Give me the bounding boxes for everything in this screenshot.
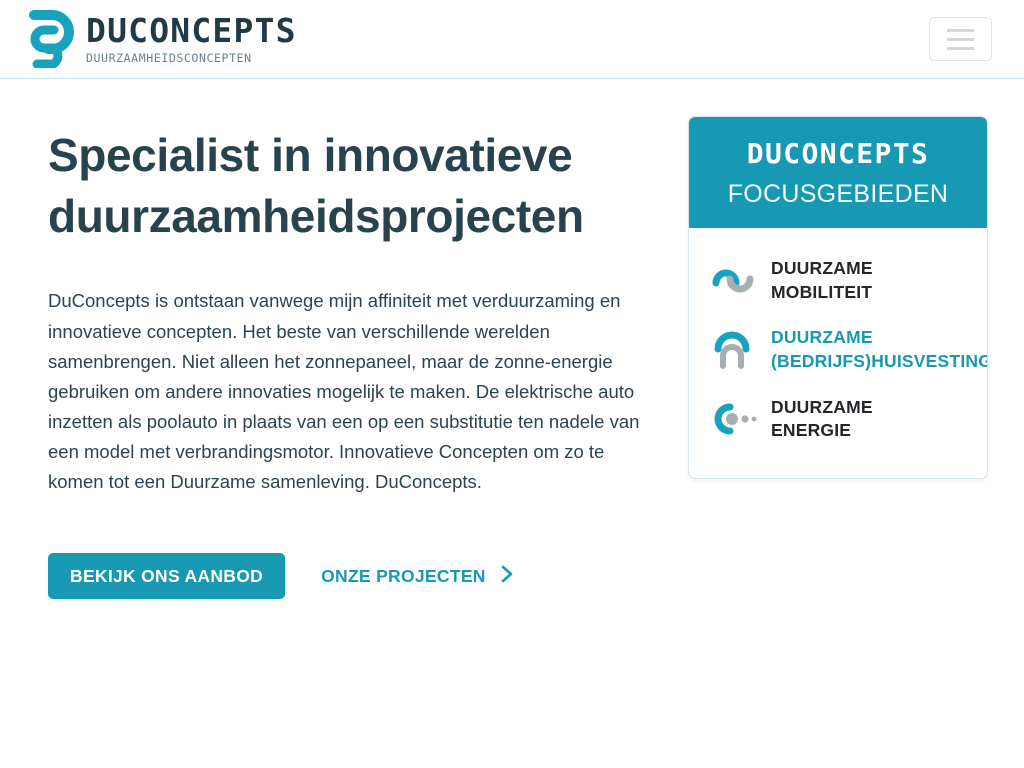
duconcepts-logo-mark-icon: [28, 10, 76, 68]
hamburger-bar-icon: [947, 47, 974, 50]
hamburger-menu-button[interactable]: [929, 17, 992, 61]
focus-card-header: DUCONCEPTS FOCUSGEBIEDEN: [689, 117, 987, 228]
page-title: Specialist in innovatieve duurzaamheidsp…: [48, 125, 640, 246]
focusgebieden-card: DUCONCEPTS FOCUSGEBIEDEN DUURZAME MOBILI…: [688, 116, 988, 479]
onze-projecten-label: ONZE PROJECTEN: [321, 566, 486, 587]
focus-card-brand: DUCONCEPTS: [689, 140, 987, 168]
mobility-wave-icon: [711, 259, 755, 303]
focus-item-duurzame-bedrijfshuisvesting[interactable]: DUURZAME (BEDRIJFS)HUISVESTING: [689, 315, 987, 384]
onze-projecten-link[interactable]: ONZE PROJECTEN: [321, 564, 514, 589]
focus-card-body: DUURZAME MOBILITEIT DUURZAME (BEDRIJFS)H…: [689, 228, 987, 478]
bekijk-ons-aanbod-button[interactable]: BEKIJK ONS AANBOD: [48, 553, 285, 599]
brand-subtitle: DUURZAAMHEIDSCONCEPTEN: [86, 53, 297, 65]
page-main: Specialist in innovatieve duurzaamheidsp…: [0, 79, 1024, 599]
site-navbar: DUCONCEPTS DUURZAAMHEIDSCONCEPTEN: [0, 0, 1024, 79]
brand-logo-link[interactable]: DUCONCEPTS DUURZAAMHEIDSCONCEPTEN: [28, 10, 297, 68]
chevron-right-icon: [500, 564, 514, 589]
focus-item-label: DUURZAME (BEDRIJFS)HUISVESTING: [771, 326, 988, 373]
hero-actions: BEKIJK ONS AANBOD ONZE PROJECTEN: [48, 553, 640, 599]
energy-dots-icon: [711, 397, 755, 441]
hero-description: DuConcepts is ontstaan vanwege mijn affi…: [48, 286, 640, 497]
focus-item-label: DUURZAME ENERGIE: [771, 396, 873, 443]
brand-text: DUCONCEPTS DUURZAAMHEIDSCONCEPTEN: [86, 14, 297, 65]
focus-sidebar: DUCONCEPTS FOCUSGEBIEDEN DUURZAME MOBILI…: [664, 79, 1000, 479]
brand-title: DUCONCEPTS: [86, 14, 297, 47]
focus-card-subtitle: FOCUSGEBIEDEN: [689, 182, 987, 207]
hamburger-bar-icon: [947, 38, 974, 41]
housing-arch-icon: [711, 328, 755, 372]
focus-item-duurzame-mobiliteit[interactable]: DUURZAME MOBILITEIT: [689, 246, 987, 315]
hero-section: Specialist in innovatieve duurzaamheidsp…: [24, 79, 664, 599]
hamburger-bar-icon: [947, 29, 974, 32]
focus-item-duurzame-energie[interactable]: DUURZAME ENERGIE: [689, 385, 987, 454]
focus-item-label: DUURZAME MOBILITEIT: [771, 257, 873, 304]
